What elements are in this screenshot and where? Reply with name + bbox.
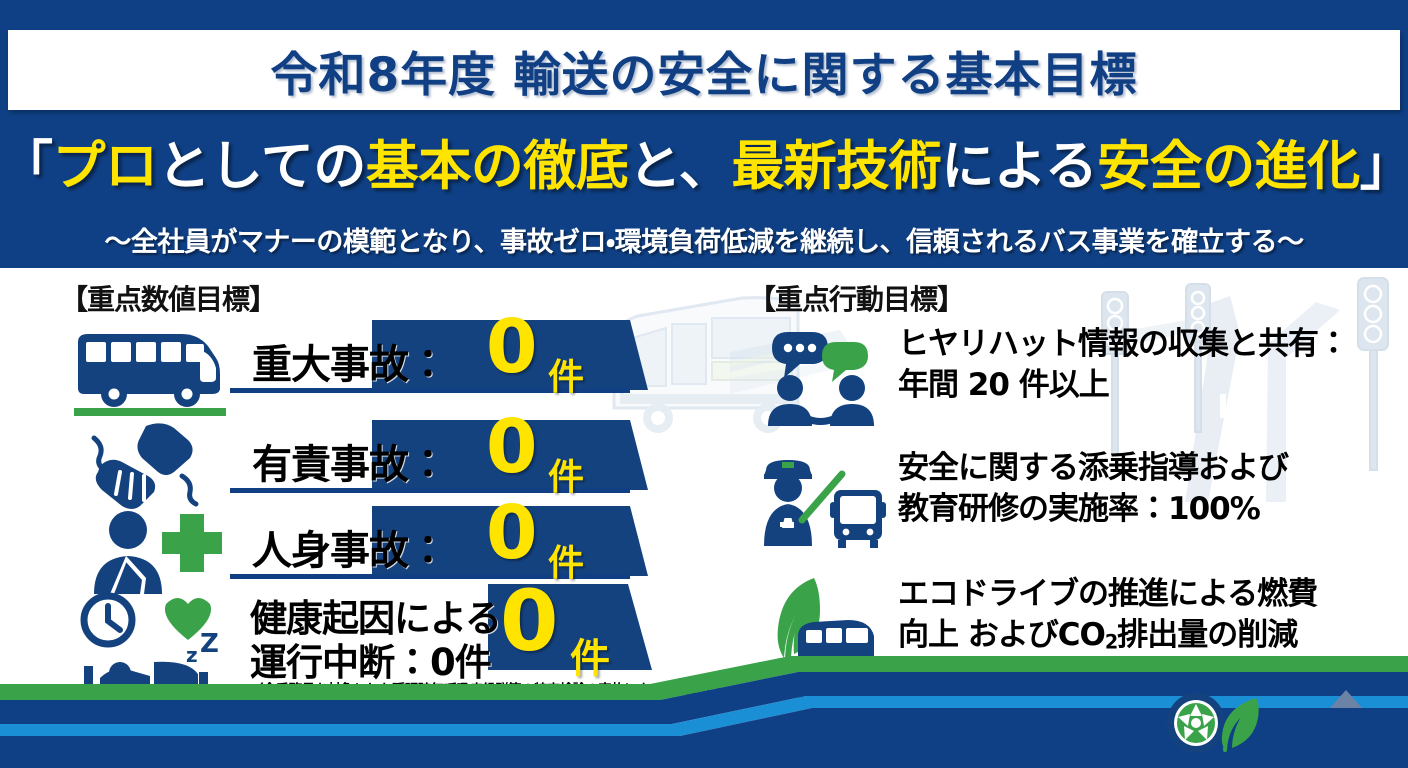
major-accident-label: 重大事故： <box>252 332 447 390</box>
slogan-part-5: 最新技術 <box>731 136 941 197</box>
svg-text:Z: Z <box>200 629 219 659</box>
collision-icon <box>70 420 235 515</box>
sub-slogan: ～全社員がマナーの模範となり、事故ゼロ・環境負荷低減を継続し、信頼されるバス事業… <box>0 220 1408 259</box>
header-band: 令和8年度 輸送の安全に関する基本目標 「プロとしての基本の徹底と、最新技術によ… <box>0 0 1408 268</box>
training-line-1: 安全に関する添乗指導および <box>898 448 1288 489</box>
main-slogan: 「プロとしての基本の徹底と、最新技術による安全の進化」 <box>0 124 1408 200</box>
eco-drive-text: エコドライブの推進による燃費 向上 およびCO2排出量の削減 <box>898 574 1317 656</box>
slogan-open-quote: 「 <box>0 136 53 197</box>
major-accident-value: 0 <box>486 314 536 381</box>
slogan-close-quote: 」 <box>1360 136 1408 197</box>
page-title: 令和8年度 輸送の安全に関する基本目標 <box>270 36 1137 105</box>
bus-icon <box>70 324 235 419</box>
near-miss-line-2: 年間 20 件以上 <box>898 365 1348 406</box>
near-miss-line-1: ヒヤリハット情報の収集と共有： <box>898 324 1348 365</box>
at-fault-accident-unit: 件 <box>548 448 584 500</box>
slogan-part-1: プロ <box>53 136 158 197</box>
slogan-part-3: 基本の徹底 <box>366 136 629 197</box>
health-interruption-value: 0 <box>500 584 556 660</box>
numeric-section-heading: 【重点数値目標】 <box>60 278 276 318</box>
near-miss-text: ヒヤリハット情報の収集と共有： 年間 20 件以上 <box>898 324 1348 406</box>
slogan-part-2: としての <box>158 136 366 197</box>
instructor-bus-icon <box>758 450 888 550</box>
personal-injury-label: 人身事故： <box>252 518 447 576</box>
slogan-part-6: による <box>941 136 1097 197</box>
action-section-heading: 【重点行動目標】 <box>748 278 964 318</box>
eco-drive-wheel-leaf-logo <box>1158 692 1268 754</box>
eco-drive-line-2: 向上 およびCO2排出量の削減 <box>898 615 1317 656</box>
injury-icon <box>70 506 235 601</box>
eco-drive-line-2-post: 排出量の削減 <box>1117 617 1297 653</box>
title-plate: 令和8年度 輸送の安全に関する基本目標 <box>8 30 1400 110</box>
personal-injury-value: 0 <box>486 500 536 567</box>
major-accident-unit: 件 <box>548 348 584 400</box>
at-fault-accident-value: 0 <box>486 414 536 481</box>
safety-goal-poster: 令和8年度 輸送の安全に関する基本目標 「プロとしての基本の徹底と、最新技術によ… <box>0 0 1408 768</box>
discussion-icon <box>758 326 888 426</box>
slogan-part-7: 安全の進化 <box>1097 136 1360 197</box>
slogan-part-4: と、 <box>628 136 731 197</box>
training-line-2: 教育研修の実施率：100% <box>898 489 1288 530</box>
eco-drive-line-1: エコドライブの推進による燃費 <box>898 574 1317 615</box>
eco-drive-co2-subscript: 2 <box>1105 630 1117 653</box>
training-text: 安全に関する添乗指導および 教育研修の実施率：100% <box>898 448 1288 530</box>
at-fault-accident-label: 有責事故： <box>252 432 447 490</box>
eco-drive-line-2-pre: 向上 およびCO <box>898 617 1105 653</box>
